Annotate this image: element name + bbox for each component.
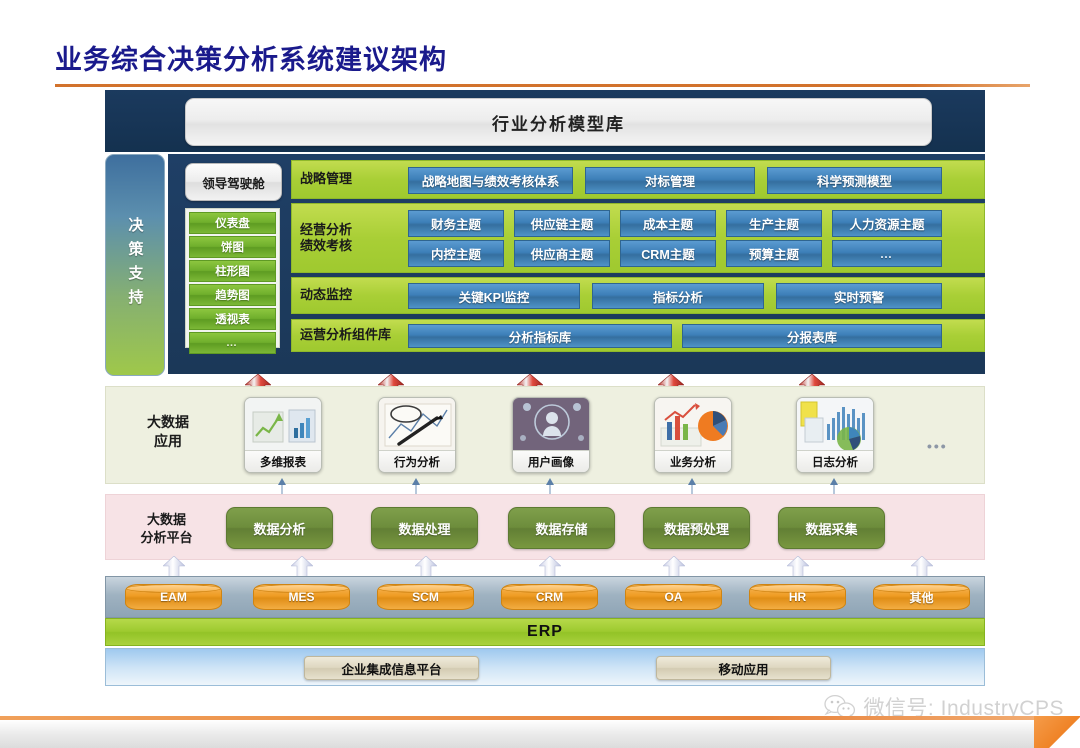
row-ops-component-library: 运营分析组件库 分析指标库 分报表库 bbox=[291, 319, 985, 352]
tile-supply-chain-subject[interactable]: 供应链主题 bbox=[514, 210, 610, 237]
tile-strategy-map[interactable]: 战略地图与绩效考核体系 bbox=[408, 167, 573, 194]
leader-cockpit-button[interactable]: 领导驾驶舱 bbox=[185, 163, 282, 201]
tile-data-analysis[interactable]: 数据分析 bbox=[226, 507, 333, 549]
model-library-band: 行业分析模型库 bbox=[105, 90, 985, 152]
db-label: SCM bbox=[412, 590, 439, 604]
tile-forecast-model[interactable]: 科学预测模型 bbox=[767, 167, 942, 194]
row-dynamic-monitoring-label: 动态监控 bbox=[300, 278, 352, 313]
footer-background bbox=[0, 720, 1080, 748]
row-business-analysis: 经营分析 绩效考核 财务主题 内控主题 供应链主题 供应商主题 成本主题 CRM… bbox=[291, 203, 985, 273]
title-divider bbox=[55, 84, 1030, 87]
log-analysis-icon bbox=[797, 398, 873, 452]
business-analysis-icon bbox=[655, 398, 731, 452]
app-card-label: 多维报表 bbox=[245, 450, 321, 472]
bigdata-application-band: 大数据 应用 多维报表 bbox=[105, 386, 985, 484]
tile-more-subjects[interactable]: … bbox=[832, 240, 942, 267]
db-cylinder-mes[interactable]: MES bbox=[253, 584, 350, 610]
bigdata-application-label: 大数据 应用 bbox=[128, 413, 208, 451]
tile-cost-subject[interactable]: 成本主题 bbox=[620, 210, 716, 237]
decision-support-label: 决策支持 bbox=[128, 217, 143, 313]
button-enterprise-integration-platform[interactable]: 企业集成信息平台 bbox=[304, 656, 479, 680]
model-library-box[interactable]: 行业分析模型库 bbox=[185, 98, 932, 146]
row-strategy-label: 战略管理 bbox=[300, 161, 352, 198]
slide-canvas: 业务综合决策分析系统建议架构 行业分析模型库 决策支持 领导驾驶舱 仪表盘 饼图… bbox=[0, 0, 1080, 748]
tile-data-processing[interactable]: 数据处理 bbox=[371, 507, 478, 549]
tile-sub-report-library[interactable]: 分报表库 bbox=[682, 324, 942, 348]
model-library-label: 行业分析模型库 bbox=[492, 110, 625, 135]
db-cylinder-oa[interactable]: OA bbox=[625, 584, 722, 610]
tile-data-collection[interactable]: 数据采集 bbox=[778, 507, 885, 549]
tile-internal-control-subject[interactable]: 内控主题 bbox=[408, 240, 504, 267]
app-card-multi-dim-report[interactable]: 多维报表 bbox=[244, 397, 322, 473]
tile-benchmark-management[interactable]: 对标管理 bbox=[585, 167, 755, 194]
bigdata-platform-label-line2: 分析平台 bbox=[124, 529, 209, 547]
db-cylinder-crm[interactable]: CRM bbox=[501, 584, 598, 610]
leader-cockpit-label: 领导驾驶舱 bbox=[202, 173, 265, 192]
button-mobile-application[interactable]: 移动应用 bbox=[656, 656, 831, 680]
list-item[interactable]: 透视表 bbox=[189, 308, 276, 330]
footer-corner-accent bbox=[1034, 716, 1080, 748]
row-strategy: 战略管理 战略地图与绩效考核体系 对标管理 科学预测模型 bbox=[291, 160, 985, 199]
db-label: EAM bbox=[160, 590, 187, 604]
erp-label: ERP bbox=[527, 623, 563, 641]
app-card-label: 行为分析 bbox=[379, 450, 455, 472]
tile-production-subject[interactable]: 生产主题 bbox=[726, 210, 822, 237]
bigdata-platform-band: 大数据 分析平台 数据分析 数据处理 数据存储 数据预处理 数据采集 bbox=[105, 494, 985, 560]
tile-crm-subject[interactable]: CRM主题 bbox=[620, 240, 716, 267]
db-cylinder-other[interactable]: 其他 bbox=[873, 584, 970, 610]
tile-budget-subject[interactable]: 预算主题 bbox=[726, 240, 822, 267]
app-card-label: 业务分析 bbox=[655, 450, 731, 472]
app-card-label: 日志分析 bbox=[797, 450, 873, 472]
app-more-dots: ••• bbox=[927, 438, 948, 454]
app-card-business-analysis[interactable]: 业务分析 bbox=[654, 397, 732, 473]
bottom-platform-band: 企业集成信息平台 移动应用 bbox=[105, 648, 985, 686]
tile-data-preprocessing[interactable]: 数据预处理 bbox=[643, 507, 750, 549]
app-card-log-analysis[interactable]: 日志分析 bbox=[796, 397, 874, 473]
app-card-user-portrait[interactable]: 用户画像 bbox=[512, 397, 590, 473]
chart-report-icon bbox=[245, 398, 321, 452]
row-dynamic-monitoring: 动态监控 关键KPI监控 指标分析 实时预警 bbox=[291, 277, 985, 314]
tile-key-kpi-monitoring[interactable]: 关键KPI监控 bbox=[408, 283, 580, 309]
db-label: HR bbox=[789, 590, 806, 604]
architecture-diagram: 行业分析模型库 决策支持 领导驾驶舱 仪表盘 饼图 柱形图 趋势图 透视表 … … bbox=[105, 90, 985, 685]
bigdata-platform-label: 大数据 分析平台 bbox=[124, 511, 209, 546]
list-item[interactable]: 仪表盘 bbox=[189, 212, 276, 234]
list-item[interactable]: 饼图 bbox=[189, 236, 276, 258]
tile-finance-subject[interactable]: 财务主题 bbox=[408, 210, 504, 237]
behavior-analysis-icon bbox=[379, 398, 455, 452]
db-cylinder-scm[interactable]: SCM bbox=[377, 584, 474, 610]
tile-supplier-subject[interactable]: 供应商主题 bbox=[514, 240, 610, 267]
app-card-label: 用户画像 bbox=[513, 450, 589, 472]
bigdata-application-label-line2: 应用 bbox=[128, 432, 208, 451]
tile-hr-subject[interactable]: 人力资源主题 bbox=[832, 210, 942, 237]
erp-bar[interactable]: ERP bbox=[105, 618, 985, 646]
slide-header: 业务综合决策分析系统建议架构 bbox=[0, 18, 1080, 74]
chart-widget-list: 仪表盘 饼图 柱形图 趋势图 透视表 … bbox=[185, 208, 280, 348]
app-card-behavior-analysis[interactable]: 行为分析 bbox=[378, 397, 456, 473]
list-item[interactable]: 趋势图 bbox=[189, 284, 276, 306]
db-label: CRM bbox=[536, 590, 563, 604]
list-item[interactable]: 柱形图 bbox=[189, 260, 276, 282]
db-label: MES bbox=[288, 590, 314, 604]
row-ops-component-library-label: 运营分析组件库 bbox=[300, 320, 391, 351]
row-dynamic-monitoring-label-line1: 动态监控 bbox=[300, 287, 352, 303]
db-label: 其他 bbox=[909, 589, 933, 606]
row-business-analysis-label-line1: 经营分析 bbox=[300, 222, 352, 238]
row-business-analysis-label-line2: 绩效考核 bbox=[300, 238, 352, 254]
decision-support-bar[interactable]: 决策支持 bbox=[105, 154, 165, 376]
db-cylinder-eam[interactable]: EAM bbox=[125, 584, 222, 610]
tile-analysis-indicator-library[interactable]: 分析指标库 bbox=[408, 324, 672, 348]
tile-data-storage[interactable]: 数据存储 bbox=[508, 507, 615, 549]
bigdata-platform-label-line1: 大数据 bbox=[124, 511, 209, 529]
row-business-analysis-label: 经营分析 绩效考核 bbox=[300, 204, 352, 272]
user-portrait-icon bbox=[513, 398, 589, 452]
db-cylinder-hr[interactable]: HR bbox=[749, 584, 846, 610]
bigdata-application-label-line1: 大数据 bbox=[128, 413, 208, 432]
tile-indicator-analysis[interactable]: 指标分析 bbox=[592, 283, 764, 309]
list-item-more[interactable]: … bbox=[189, 332, 276, 354]
row-strategy-label-line1: 战略管理 bbox=[300, 171, 352, 187]
db-label: OA bbox=[665, 590, 683, 604]
tile-realtime-alert[interactable]: 实时预警 bbox=[776, 283, 942, 309]
row-ops-component-library-label-line1: 运营分析组件库 bbox=[300, 327, 391, 343]
page-title: 业务综合决策分析系统建议架构 bbox=[55, 38, 447, 77]
